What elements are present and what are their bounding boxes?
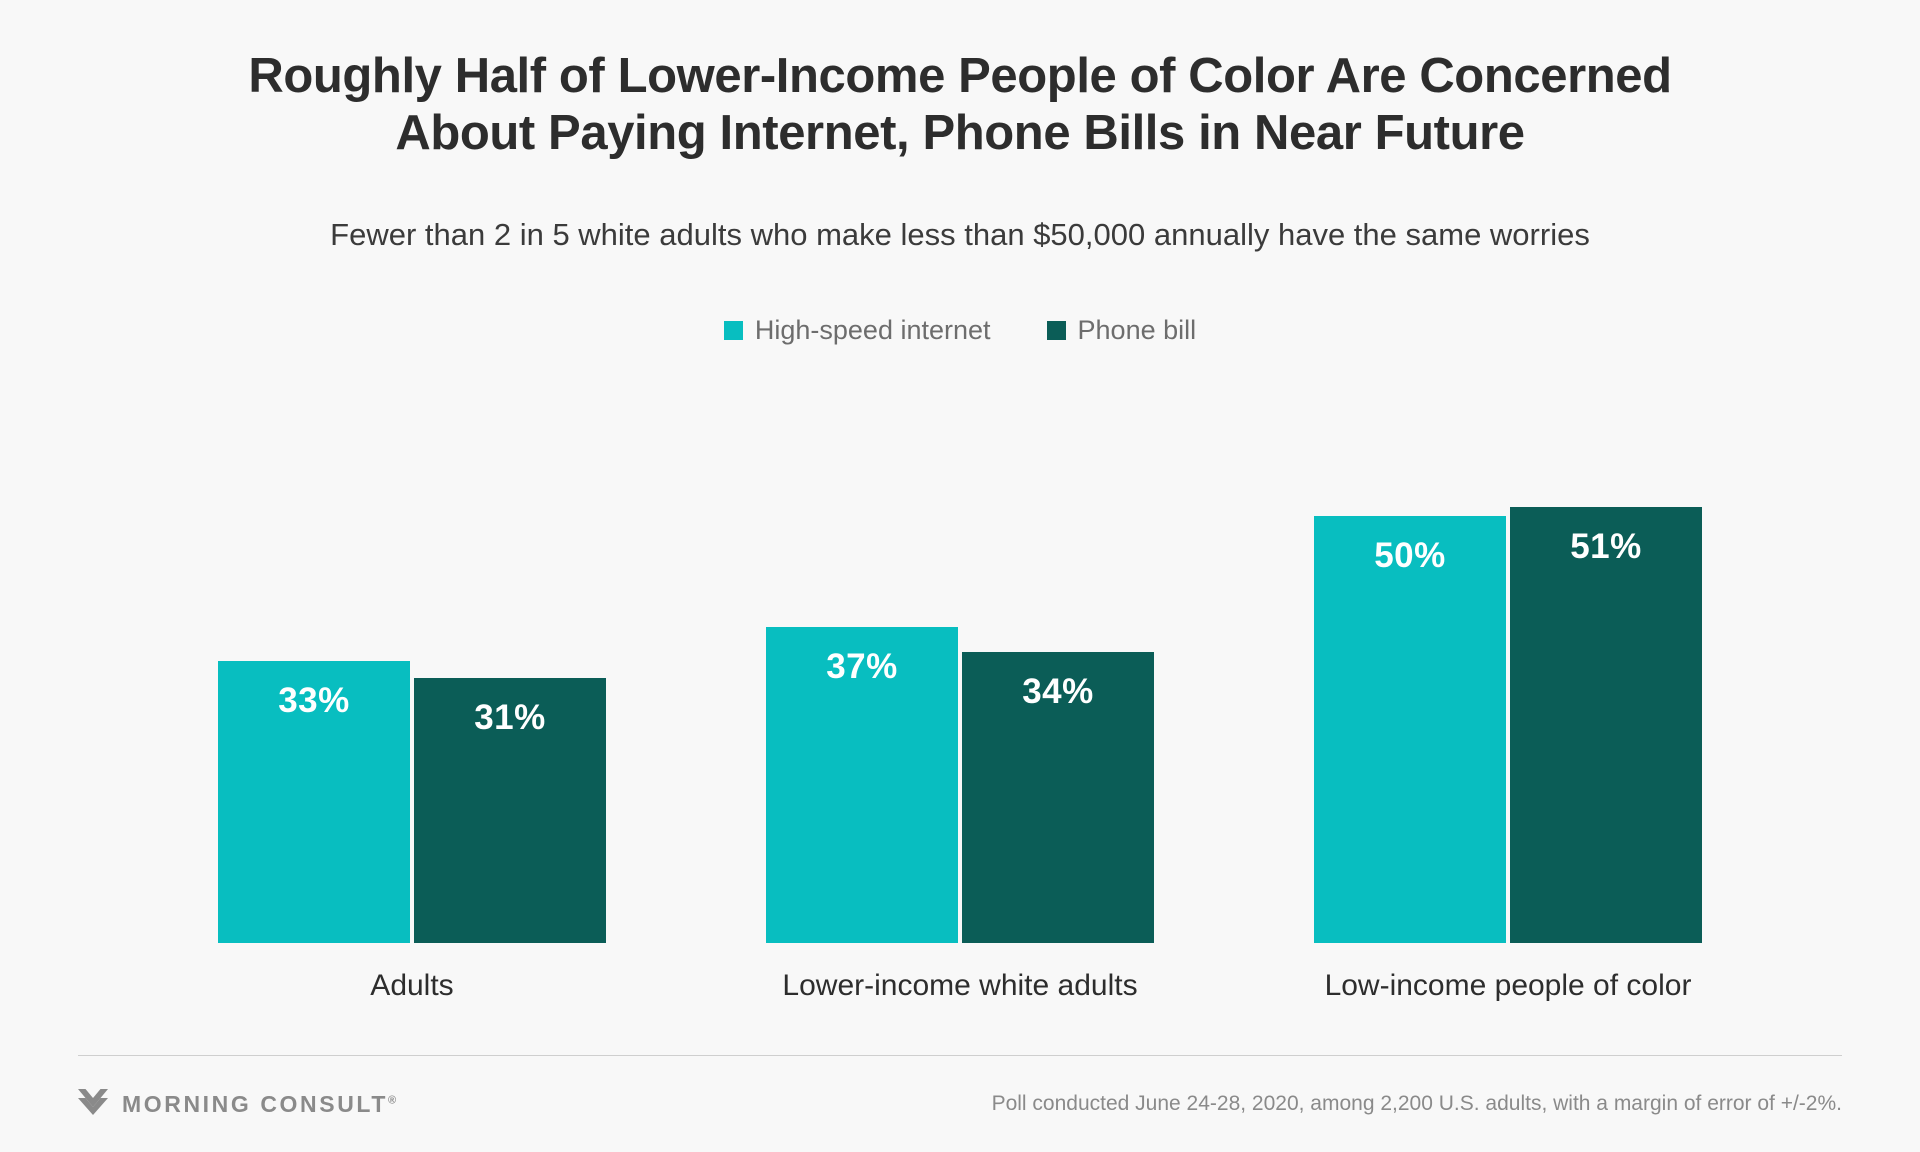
brand-name: MORNING CONSULT®: [122, 1091, 396, 1118]
legend-item-high-speed-internet[interactable]: High-speed internet: [724, 317, 991, 344]
bar-high-speed-internet[interactable]: 50%: [1314, 516, 1506, 943]
chart-legend: High-speed internet Phone bill: [78, 317, 1842, 344]
bar-value-label: 31%: [414, 698, 606, 738]
bar-high-speed-internet[interactable]: 37%: [766, 627, 958, 943]
bar-high-speed-internet[interactable]: 33%: [218, 661, 410, 943]
bar-value-label: 37%: [766, 647, 958, 687]
morning-consult-chevron-logo: [78, 1089, 108, 1120]
chart-header: Roughly Half of Lower-Income People of C…: [78, 0, 1842, 255]
bar-phone-bill[interactable]: 34%: [962, 652, 1154, 943]
bar-group-low-income-people-of-color: 50% 51% Low-income people of color: [1314, 473, 1702, 943]
legend-label: Phone bill: [1078, 317, 1197, 344]
bar-phone-bill[interactable]: 31%: [414, 678, 606, 943]
page-title-line-1: Roughly Half of Lower-Income People of C…: [248, 49, 1671, 103]
bar-pair: 50% 51%: [1314, 473, 1702, 943]
square-swatch-icon: [724, 321, 743, 340]
bar-pair: 37% 34%: [766, 473, 1154, 943]
category-label-lower-income-white-adults: Lower-income white adults: [782, 969, 1137, 1003]
legend-label: High-speed internet: [755, 317, 991, 344]
category-label-low-income-people-of-color: Low-income people of color: [1325, 969, 1692, 1003]
category-label-adults: Adults: [370, 969, 453, 1003]
brand-lockup: MORNING CONSULT®: [78, 1089, 396, 1120]
chart-page: Roughly Half of Lower-Income People of C…: [0, 0, 1920, 1152]
source-note: Poll conducted June 24-28, 2020, among 2…: [992, 1092, 1842, 1116]
page-subtitle: Fewer than 2 in 5 white adults who make …: [78, 215, 1842, 255]
bar-group-adults: 33% 31% Adults: [218, 473, 606, 943]
legend-item-phone-bill[interactable]: Phone bill: [1047, 317, 1197, 344]
bar-value-label: 34%: [962, 672, 1154, 712]
registered-mark-icon: ®: [388, 1094, 396, 1106]
chart-footer: MORNING CONSULT® Poll conducted June 24-…: [78, 1056, 1842, 1152]
square-swatch-icon: [1047, 321, 1066, 340]
bar-pair: 33% 31%: [218, 473, 606, 943]
bar-value-label: 51%: [1510, 527, 1702, 567]
bar-chart-plot-area: 33% 31% Adults 37% 34% Lower-income whit…: [78, 370, 1842, 1055]
bar-value-label: 33%: [218, 681, 410, 721]
page-title-line-2: About Paying Internet, Phone Bills in Ne…: [395, 106, 1524, 160]
page-title: Roughly Half of Lower-Income People of C…: [78, 48, 1842, 163]
bar-phone-bill[interactable]: 51%: [1510, 507, 1702, 943]
brand-name-text: MORNING CONSULT: [122, 1091, 388, 1117]
bar-value-label: 50%: [1314, 536, 1506, 576]
bar-group-lower-income-white-adults: 37% 34% Lower-income white adults: [766, 473, 1154, 943]
